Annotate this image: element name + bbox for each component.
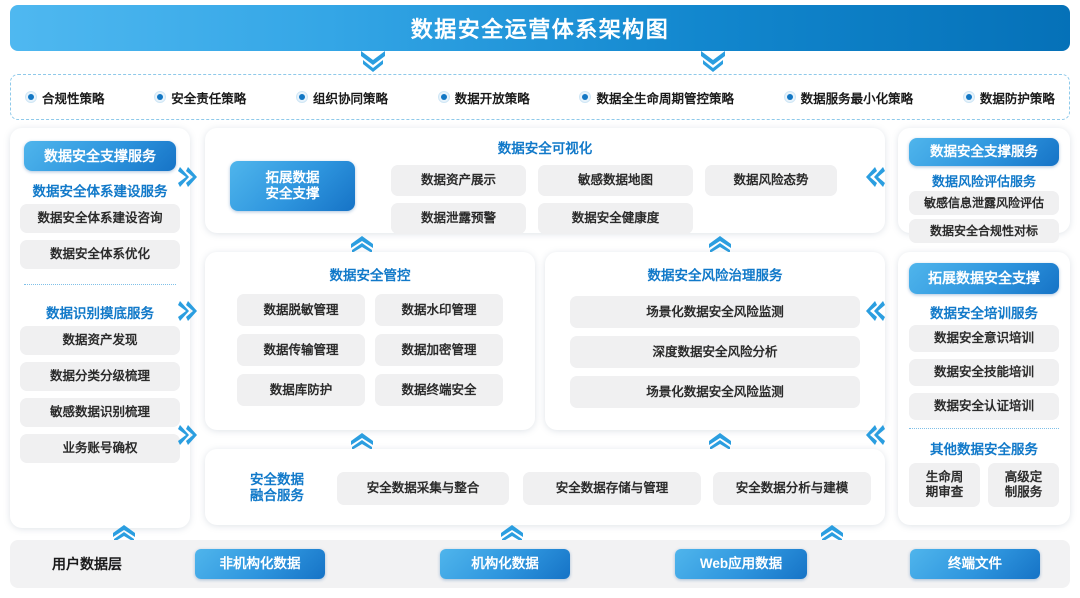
training-item-1[interactable]: 数据安全技能培训 xyxy=(909,359,1059,386)
center-top-title: 数据安全可视化 xyxy=(205,137,885,157)
chevron-double-down-icon xyxy=(700,51,726,73)
security-data-fusion-panel: 安全数据 融合服务 安全数据采集与整合 安全数据存储与管理 安全数据分析与建模 xyxy=(205,449,885,525)
left-group2-item-2[interactable]: 敏感数据识别梳理 xyxy=(20,398,180,427)
radio-dot-icon xyxy=(25,91,37,103)
visualization-item-2[interactable]: 数据风险态势 xyxy=(705,165,837,196)
visualization-item-3[interactable]: 数据泄露预警 xyxy=(391,203,526,234)
data-security-visualization-panel: 数据安全可视化 拓展数据 安全支撑 数据资产展示 敏感数据地图 数据风险态势 数… xyxy=(205,128,885,233)
visualization-item-0[interactable]: 数据资产展示 xyxy=(391,165,526,196)
risk-governance-title: 数据安全风险治理服务 xyxy=(545,264,885,284)
risk-item-0[interactable]: 场景化数据安全风险监测 xyxy=(570,296,860,328)
policy-label: 安全责任策略 xyxy=(171,88,246,107)
control-item-3[interactable]: 数据加密管理 xyxy=(375,334,503,366)
visualization-item-1[interactable]: 敏感数据地图 xyxy=(538,165,693,196)
user-data-layer-label: 用户数据层 xyxy=(52,554,122,574)
training-item-2[interactable]: 数据安全认证培训 xyxy=(909,393,1059,420)
visualization-item-4[interactable]: 数据安全健康度 xyxy=(538,203,693,234)
diagram-header: 数据安全运营体系架构图 xyxy=(10,5,1070,51)
chevron-double-left-icon xyxy=(866,300,886,322)
other-service-1-line1: 高级定 xyxy=(1005,470,1043,484)
control-item-0[interactable]: 数据脱敏管理 xyxy=(237,294,365,326)
policy-label: 数据防护策略 xyxy=(980,88,1055,107)
chevron-double-up-icon xyxy=(350,235,374,253)
policy-item-3[interactable]: 数据开放策略 xyxy=(438,88,530,107)
risk-assessment-title: 数据风险评估服务 xyxy=(898,171,1070,190)
data-type-1[interactable]: 机构化数据 xyxy=(440,549,570,579)
control-panel-title: 数据安全管控 xyxy=(205,264,535,284)
left-services-panel: 数据安全支撑服务 数据安全体系建设服务 数据安全体系建设咨询 数据安全体系优化 … xyxy=(10,128,190,528)
user-data-layer-bar: 用户数据层 非机构化数据 机构化数据 Web应用数据 终端文件 xyxy=(10,540,1070,588)
data-type-0[interactable]: 非机构化数据 xyxy=(195,549,325,579)
risk-assessment-item-0[interactable]: 敏感信息泄露风险评估 xyxy=(909,191,1059,215)
policy-item-2[interactable]: 组织协同策略 xyxy=(296,88,388,107)
fusion-item-0[interactable]: 安全数据采集与整合 xyxy=(337,472,509,505)
other-service-item-0[interactable]: 生命周 期审查 xyxy=(909,463,980,507)
policy-strip: 合规性策略 安全责任策略 组织协同策略 数据开放策略 数据全生命周期管控策略 数… xyxy=(10,74,1070,120)
right-panel-divider xyxy=(909,428,1059,429)
right-bottom-pill[interactable]: 拓展数据安全支撑 xyxy=(909,263,1059,294)
left-group1-item-1[interactable]: 数据安全体系优化 xyxy=(20,240,180,269)
left-group1-item-0[interactable]: 数据安全体系建设咨询 xyxy=(20,204,180,233)
chevron-double-up-icon xyxy=(708,235,732,253)
risk-item-2[interactable]: 场景化数据安全风险监测 xyxy=(570,376,860,408)
policy-item-0[interactable]: 合规性策略 xyxy=(25,88,105,107)
policy-label: 数据全生命周期管控策略 xyxy=(596,88,734,107)
fusion-label-line2: 融合服务 xyxy=(250,488,304,503)
risk-assessment-panel: 数据安全支撑服务 数据风险评估服务 敏感信息泄露风险评估 数据安全合规性对标 xyxy=(898,128,1070,233)
radio-dot-icon xyxy=(963,91,975,103)
risk-governance-panel: 数据安全风险治理服务 场景化数据安全风险监测 深度数据安全风险分析 场景化数据安… xyxy=(545,252,885,430)
chevron-double-right-icon xyxy=(178,300,198,322)
training-services-panel: 拓展数据安全支撑 数据安全培训服务 数据安全意识培训 数据安全技能培训 数据安全… xyxy=(898,252,1070,525)
other-service-1-line2: 制服务 xyxy=(1005,485,1043,499)
policy-item-1[interactable]: 安全责任策略 xyxy=(154,88,246,107)
chevron-double-left-icon xyxy=(866,424,886,446)
training-title: 数据安全培训服务 xyxy=(898,302,1070,322)
data-type-2[interactable]: Web应用数据 xyxy=(675,549,807,579)
fusion-panel-label: 安全数据 融合服务 xyxy=(223,469,331,507)
chevron-double-up-icon xyxy=(350,432,374,450)
chevron-double-down-icon xyxy=(360,51,386,73)
center-top-pill-line2: 安全支撑 xyxy=(266,186,320,201)
chevron-double-right-icon xyxy=(178,166,198,188)
left-group2-title: 数据识别摸底服务 xyxy=(10,302,190,322)
control-item-5[interactable]: 数据终端安全 xyxy=(375,374,503,406)
control-item-4[interactable]: 数据库防护 xyxy=(237,374,365,406)
right-top-pill[interactable]: 数据安全支撑服务 xyxy=(909,138,1059,166)
center-top-pill-line1: 拓展数据 xyxy=(266,170,320,185)
radio-dot-icon xyxy=(784,91,796,103)
chevron-double-up-icon xyxy=(708,432,732,450)
policy-label: 数据开放策略 xyxy=(455,88,530,107)
center-top-pill[interactable]: 拓展数据 安全支撑 xyxy=(230,161,355,211)
page-title: 数据安全运营体系架构图 xyxy=(411,12,670,44)
data-security-control-panel: 数据安全管控 数据脱敏管理 数据水印管理 数据传输管理 数据加密管理 数据库防护… xyxy=(205,252,535,430)
other-service-0-line1: 生命周 xyxy=(926,470,964,484)
policy-label: 数据服务最小化策略 xyxy=(801,88,914,107)
policy-label: 合规性策略 xyxy=(42,88,105,107)
left-group2-item-3[interactable]: 业务账号确权 xyxy=(20,434,180,463)
risk-assessment-item-1[interactable]: 数据安全合规性对标 xyxy=(909,219,1059,243)
left-group2-item-1[interactable]: 数据分类分级梳理 xyxy=(20,362,180,391)
control-item-1[interactable]: 数据水印管理 xyxy=(375,294,503,326)
fusion-item-2[interactable]: 安全数据分析与建模 xyxy=(713,472,871,505)
training-item-0[interactable]: 数据安全意识培训 xyxy=(909,325,1059,352)
left-panel-pill[interactable]: 数据安全支撑服务 xyxy=(24,141,176,171)
policy-item-5[interactable]: 数据服务最小化策略 xyxy=(784,88,914,107)
other-services-title: 其他数据安全服务 xyxy=(898,438,1070,458)
radio-dot-icon xyxy=(579,91,591,103)
diagram-canvas: 数据安全运营体系架构图 合规性策略 安全责任策略 组织协同策略 数据开放策略 xyxy=(0,0,1080,598)
left-panel-divider xyxy=(24,284,176,285)
other-service-item-1[interactable]: 高级定 制服务 xyxy=(988,463,1059,507)
risk-item-1[interactable]: 深度数据安全风险分析 xyxy=(570,336,860,368)
left-group1-title: 数据安全体系建设服务 xyxy=(10,180,190,200)
policy-item-6[interactable]: 数据防护策略 xyxy=(963,88,1055,107)
policy-item-4[interactable]: 数据全生命周期管控策略 xyxy=(579,88,734,107)
fusion-item-1[interactable]: 安全数据存储与管理 xyxy=(523,472,701,505)
other-service-0-line2: 期审查 xyxy=(926,485,964,499)
policy-label: 组织协同策略 xyxy=(313,88,388,107)
fusion-label-line1: 安全数据 xyxy=(250,472,304,487)
data-type-3[interactable]: 终端文件 xyxy=(910,549,1040,579)
radio-dot-icon xyxy=(154,91,166,103)
radio-dot-icon xyxy=(438,91,450,103)
chevron-double-right-icon xyxy=(178,424,198,446)
radio-dot-icon xyxy=(296,91,308,103)
chevron-double-left-icon xyxy=(866,166,886,188)
control-item-2[interactable]: 数据传输管理 xyxy=(237,334,365,366)
left-group2-item-0[interactable]: 数据资产发现 xyxy=(20,326,180,355)
